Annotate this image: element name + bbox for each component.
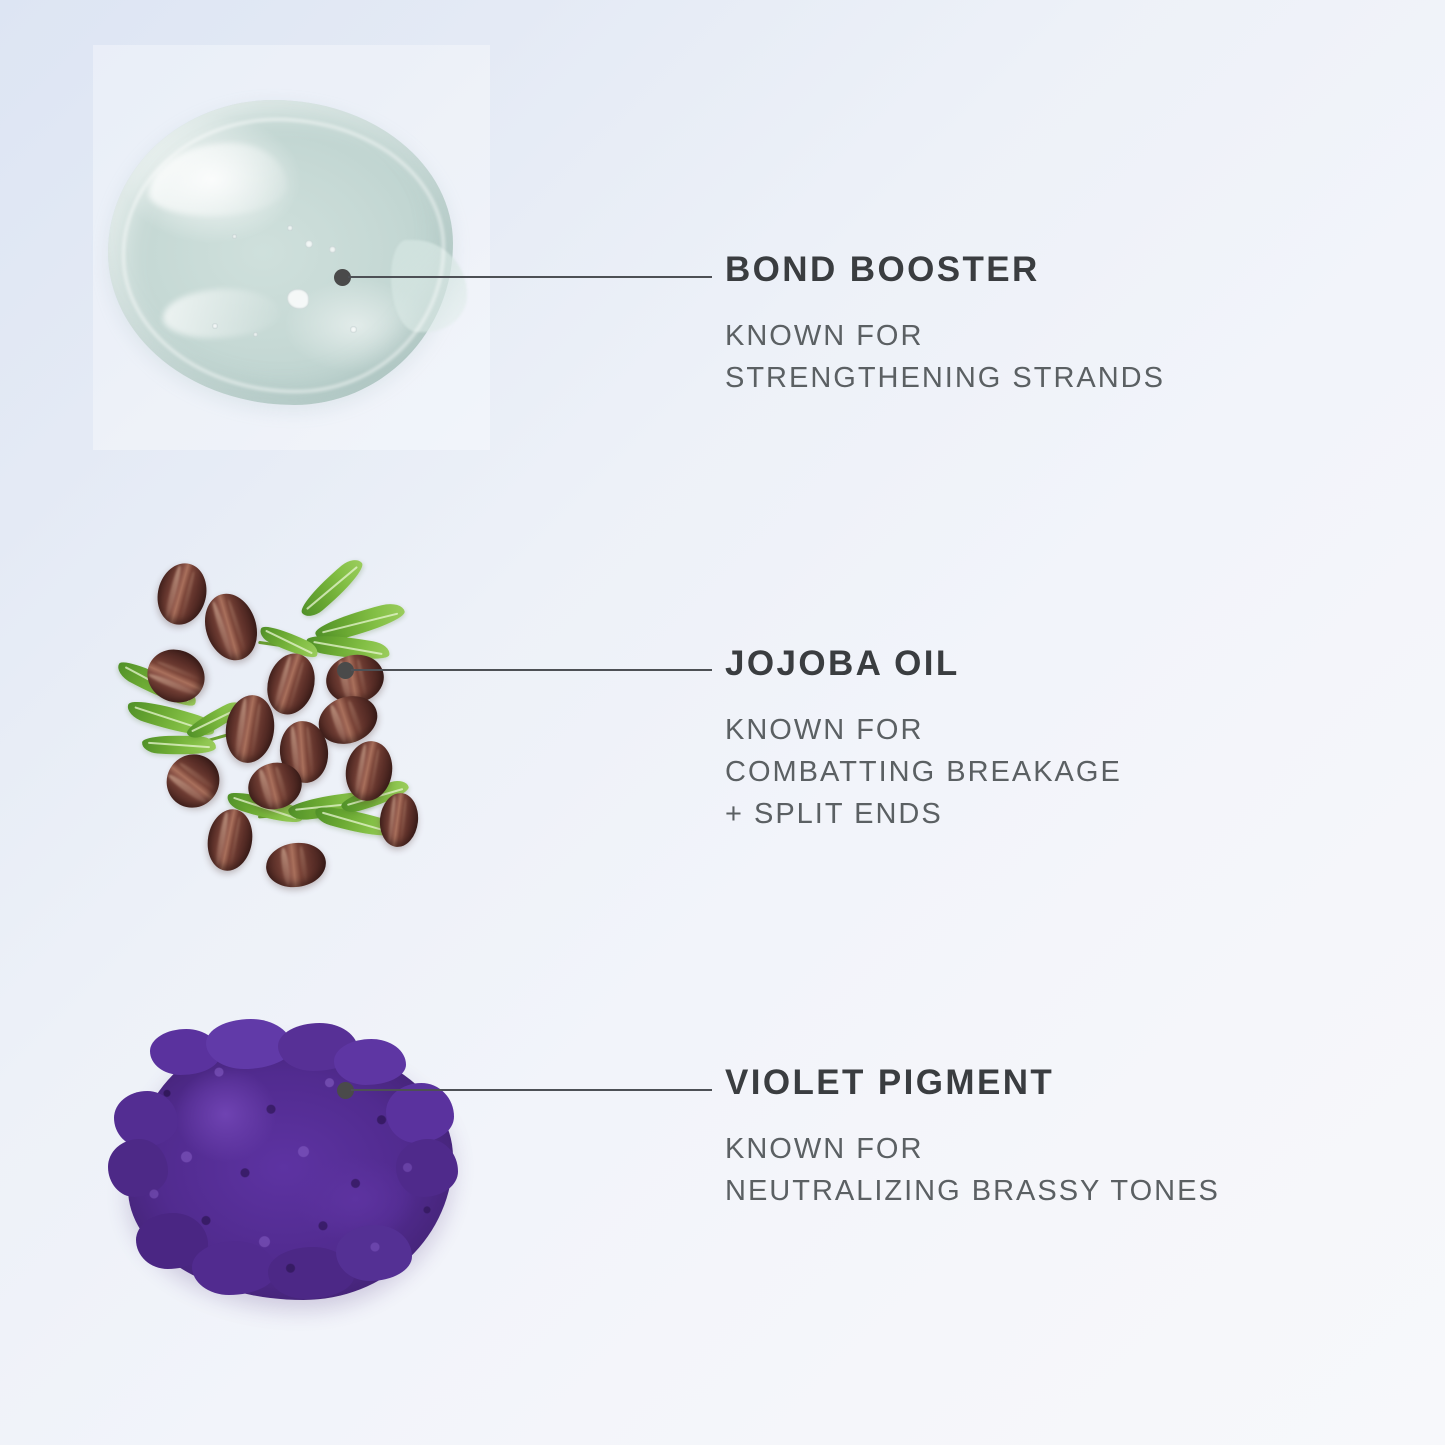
jojoba-seed xyxy=(263,839,329,891)
callout-violet-pigment: VIOLET PIGMENT KNOWN FOR NEUTRALIZING BR… xyxy=(725,1065,1220,1212)
gel-bubble xyxy=(287,289,309,309)
ingredient-description: KNOWN FOR COMBATTING BREAKAGE + SPLIT EN… xyxy=(725,709,1122,835)
description-line: STRENGTHENING STRANDS xyxy=(725,357,1165,399)
gel-bubble xyxy=(253,332,258,337)
description-line: COMBATTING BREAKAGE xyxy=(725,751,1122,793)
violet-powder-swatch xyxy=(128,1035,453,1300)
gel-swatch-bond-booster xyxy=(108,100,453,405)
jojoba-seed xyxy=(151,558,213,630)
ingredient-description: KNOWN FOR STRENGTHENING STRANDS xyxy=(725,315,1165,399)
description-line: + SPLIT ENDS xyxy=(725,793,1122,835)
ingredient-title: JOJOBA OIL xyxy=(725,646,1122,683)
ingredient-title: VIOLET PIGMENT xyxy=(725,1065,1220,1102)
jojoba-leaf xyxy=(141,732,216,757)
ingredient-title: BOND BOOSTER xyxy=(725,252,1165,289)
jojoba-seed xyxy=(197,587,266,667)
jojoba-seed xyxy=(156,744,230,818)
jojoba-seeds-swatch xyxy=(108,555,438,905)
jojoba-seed xyxy=(139,641,212,711)
description-line: NEUTRALIZING BRASSY TONES xyxy=(725,1170,1220,1212)
ingredient-description: KNOWN FOR NEUTRALIZING BRASSY TONES xyxy=(725,1128,1220,1212)
callout-jojoba-oil: JOJOBA OIL KNOWN FOR COMBATTING BREAKAGE… xyxy=(725,646,1122,835)
gel-bubble xyxy=(305,240,313,248)
jojoba-seed xyxy=(203,806,257,875)
powder-grain-texture xyxy=(128,1035,453,1300)
gel-bubble xyxy=(350,326,357,333)
callout-bond-booster: BOND BOOSTER KNOWN FOR STRENGTHENING STR… xyxy=(725,252,1165,399)
description-line: KNOWN FOR xyxy=(725,315,1165,357)
ingredient-infographic: BOND BOOSTER KNOWN FOR STRENGTHENING STR… xyxy=(0,0,1445,1445)
description-line: KNOWN FOR xyxy=(725,709,1122,751)
gel-bubble xyxy=(212,323,218,329)
description-line: KNOWN FOR xyxy=(725,1128,1220,1170)
